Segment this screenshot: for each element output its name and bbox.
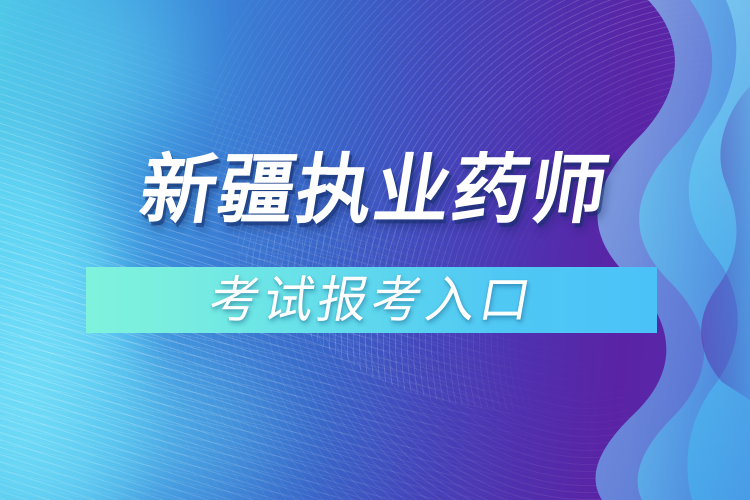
promo-poster: 新疆执业药师 考试报考入口 <box>0 0 750 500</box>
decorative-wave-bands-right <box>530 0 750 500</box>
entry-banner[interactable]: 考试报考入口 <box>86 267 657 333</box>
entry-banner-label: 考试报考入口 <box>205 275 538 325</box>
